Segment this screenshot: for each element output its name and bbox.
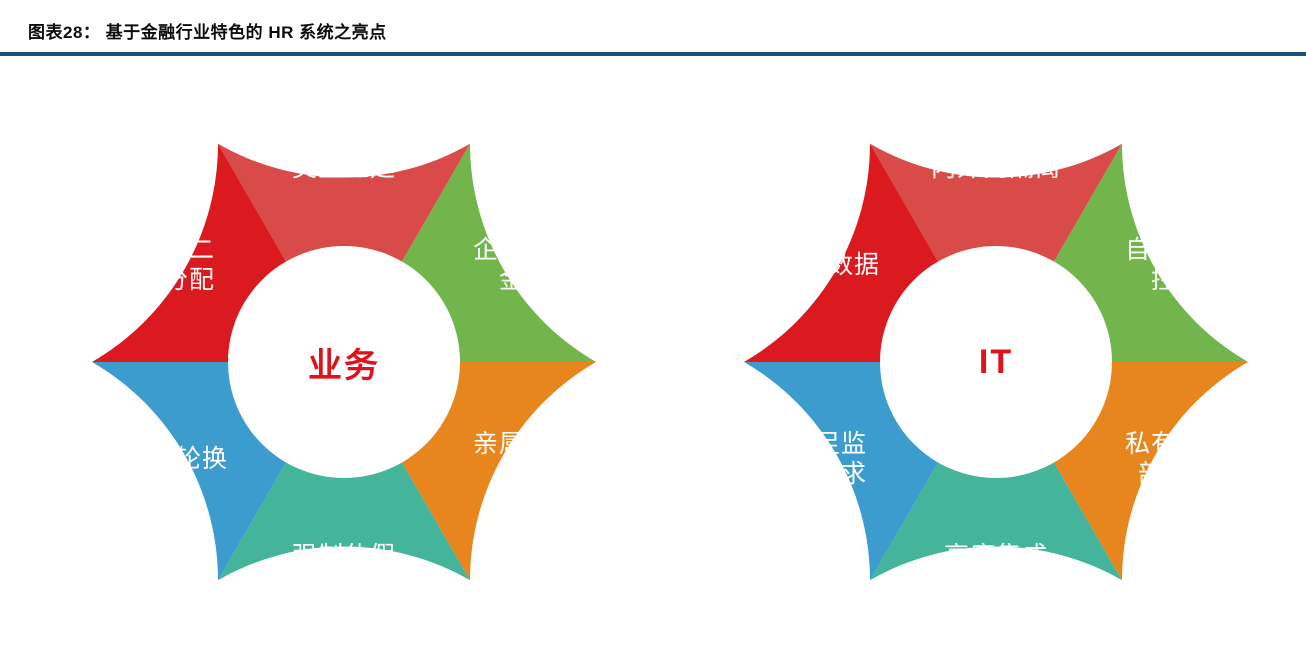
header-divider-rule (0, 52, 1306, 56)
business-donut-svg (92, 110, 596, 614)
it-donut-svg (744, 110, 1248, 614)
donut-hub (228, 246, 460, 478)
page-title: 图表28： 基于金融行业特色的 HR 系统之亮点 (28, 18, 387, 43)
exhibit-header: 图表28： 基于金融行业特色的 HR 系统之亮点 (0, 0, 1306, 60)
business-donut-chart: 业务 奖金递延企业年金亲属回避强制休假岗位轮换奖金二 次分配 (92, 110, 596, 614)
it-donut-chart: IT 内外网隔离自主可控私有化 部署高度集成满足监 管要求海量数据 (744, 110, 1248, 614)
donut-hub (880, 246, 1112, 478)
